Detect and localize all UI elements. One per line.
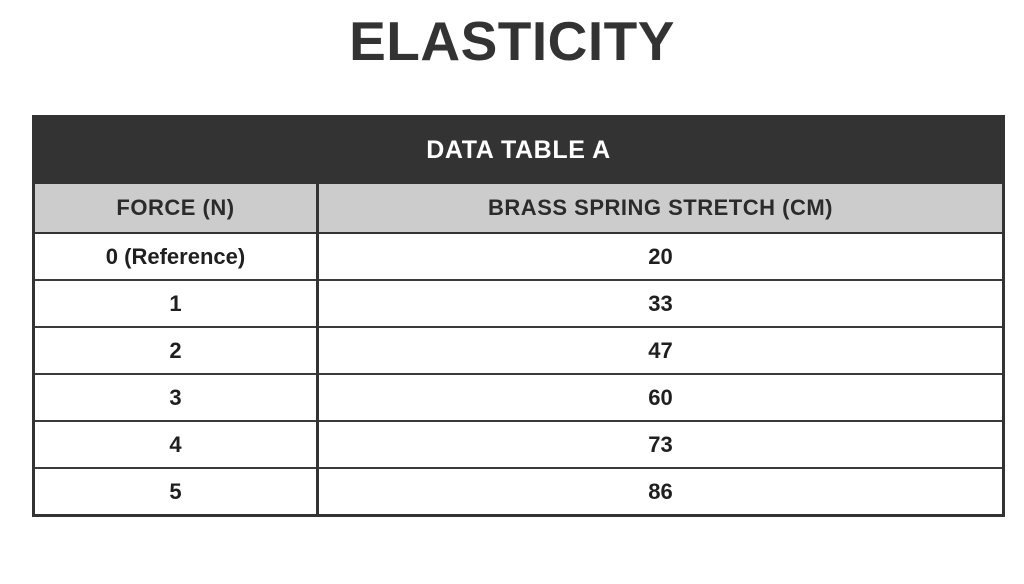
cell-force: 0 (Reference) xyxy=(34,233,318,280)
table-header: DATA TABLE A FORCE (N) BRASS SPRING STRE… xyxy=(34,117,1004,234)
cell-stretch: 86 xyxy=(318,468,1004,516)
cell-stretch: 73 xyxy=(318,421,1004,468)
table-row: 247 xyxy=(34,327,1004,374)
table-row: 133 xyxy=(34,280,1004,327)
cell-force: 3 xyxy=(34,374,318,421)
cell-stretch: 20 xyxy=(318,233,1004,280)
table-title-row: DATA TABLE A xyxy=(34,117,1004,184)
table-row: 0 (Reference)20 xyxy=(34,233,1004,280)
cell-force: 2 xyxy=(34,327,318,374)
table-row: 360 xyxy=(34,374,1004,421)
cell-stretch: 60 xyxy=(318,374,1004,421)
table-row: 473 xyxy=(34,421,1004,468)
cell-stretch: 33 xyxy=(318,280,1004,327)
table-row: 586 xyxy=(34,468,1004,516)
column-header-stretch: BRASS SPRING STRETCH (CM) xyxy=(318,183,1004,233)
page-title: ELASTICITY xyxy=(0,14,1024,69)
data-table-a: DATA TABLE A FORCE (N) BRASS SPRING STRE… xyxy=(32,115,1005,517)
cell-force: 5 xyxy=(34,468,318,516)
table-column-header-row: FORCE (N) BRASS SPRING STRETCH (CM) xyxy=(34,183,1004,233)
column-header-force: FORCE (N) xyxy=(34,183,318,233)
table-body: 0 (Reference)20133247360473586 xyxy=(34,233,1004,516)
cell-force: 1 xyxy=(34,280,318,327)
cell-force: 4 xyxy=(34,421,318,468)
cell-stretch: 47 xyxy=(318,327,1004,374)
table-title: DATA TABLE A xyxy=(34,117,1004,184)
